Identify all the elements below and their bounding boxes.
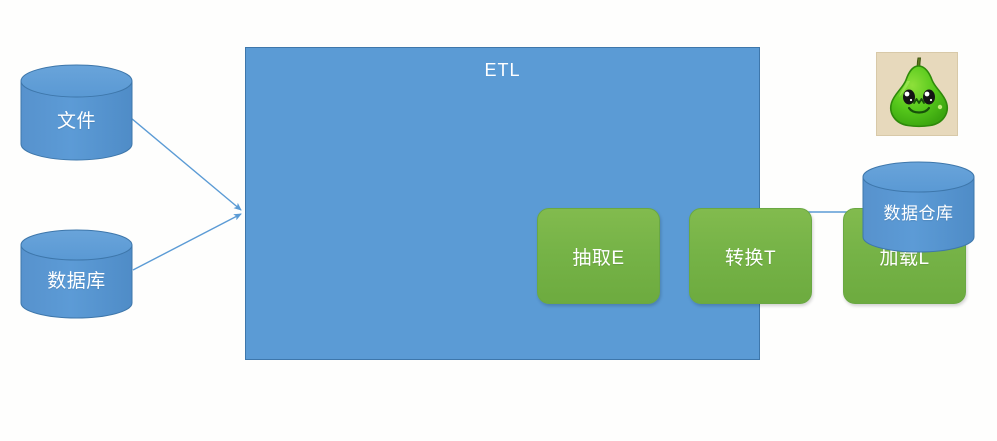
target-label-warehouse: 数据仓库	[862, 205, 975, 222]
source-node-database[interactable]: 数据库	[20, 229, 133, 319]
target-node-warehouse[interactable]: 数据仓库	[862, 161, 975, 253]
pear-mascot-icon	[877, 53, 958, 136]
etl-title: ETL	[246, 60, 759, 81]
etl-stage-extract[interactable]: 抽取E	[537, 208, 660, 304]
etl-architecture-diagram: 文件 数据库 ETL 抽取E	[0, 0, 997, 441]
connector-database-to-etl	[133, 214, 241, 270]
etl-container[interactable]: ETL 抽取E 转换T 加载L	[245, 47, 760, 360]
etl-stage-label-transform: 转换T	[725, 243, 776, 270]
etl-stage-transform[interactable]: 转换T	[689, 208, 812, 304]
pear-mascot-logo	[876, 52, 958, 136]
etl-stage-label-extract: 抽取E	[572, 243, 624, 270]
source-label-file: 文件	[20, 112, 133, 131]
source-node-file[interactable]: 文件	[20, 64, 133, 161]
source-label-database: 数据库	[20, 272, 133, 291]
connector-file-to-etl	[131, 118, 241, 210]
